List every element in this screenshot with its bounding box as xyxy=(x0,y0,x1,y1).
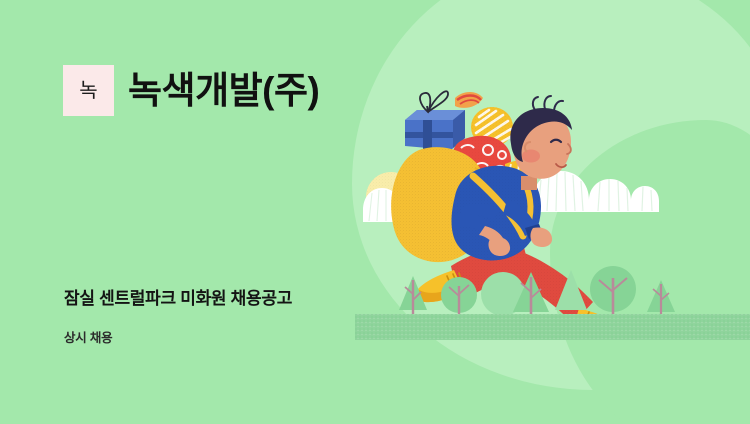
tree-round xyxy=(590,266,636,320)
job-type-badge: 상시 채용 xyxy=(64,327,292,346)
orange-wedge-gift xyxy=(455,92,483,108)
job-posting-card: 녹 녹색개발(주) 잠실 센트럴파크 미화원 채용공고 상시 채용 xyxy=(0,0,750,424)
company-name: 녹색개발(주) xyxy=(128,72,319,109)
ground-strip xyxy=(355,314,750,340)
runner-head xyxy=(510,96,572,179)
company-logo-initial: 녹 xyxy=(79,81,97,101)
runner-neck xyxy=(521,176,537,190)
tree-round xyxy=(441,277,477,318)
company-logo: 녹 xyxy=(63,65,114,116)
footer: 잠실 센트럴파크 미화원 채용공고 상시 채용 xyxy=(64,288,292,346)
job-title: 잠실 센트럴파크 미화원 채용공고 xyxy=(64,288,292,310)
header: 녹 녹색개발(주) xyxy=(63,65,319,116)
illustration-running-man xyxy=(355,80,750,340)
right-bush-cloud xyxy=(533,171,659,212)
